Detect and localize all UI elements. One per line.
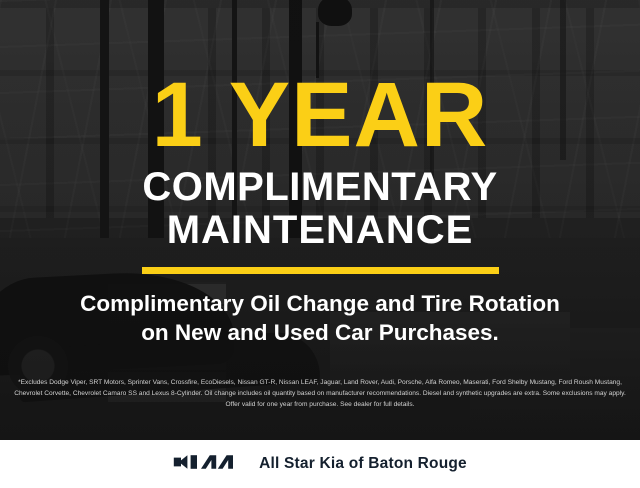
legal-disclaimer: *Excludes Dodge Viper, SRT Motors, Sprin… xyxy=(14,378,626,410)
headline-primary: 1 YEAR xyxy=(152,72,489,158)
promo-banner: 1 YEAR COMPLIMENTARY MAINTENANCE Complim… xyxy=(0,0,640,488)
banner-content: 1 YEAR COMPLIMENTARY MAINTENANCE Complim… xyxy=(0,0,640,488)
dealer-name-label: All Star Kia of Baton Rouge xyxy=(259,455,467,473)
headline-secondary-line-2: MAINTENANCE xyxy=(142,209,497,251)
offer-subtitle: Complimentary Oil Change and Tire Rotati… xyxy=(80,290,560,348)
dealer-footer-bar: All Star Kia of Baton Rouge xyxy=(0,440,640,488)
yellow-divider-rule xyxy=(142,267,499,274)
headline-secondary-line-1: COMPLIMENTARY xyxy=(142,165,497,209)
offer-subtitle-line-1: Complimentary Oil Change and Tire Rotati… xyxy=(80,291,560,316)
headline-secondary: COMPLIMENTARY MAINTENANCE xyxy=(142,166,497,251)
offer-subtitle-line-2: on New and Used Car Purchases. xyxy=(80,319,560,348)
kia-logo-icon xyxy=(173,452,241,477)
